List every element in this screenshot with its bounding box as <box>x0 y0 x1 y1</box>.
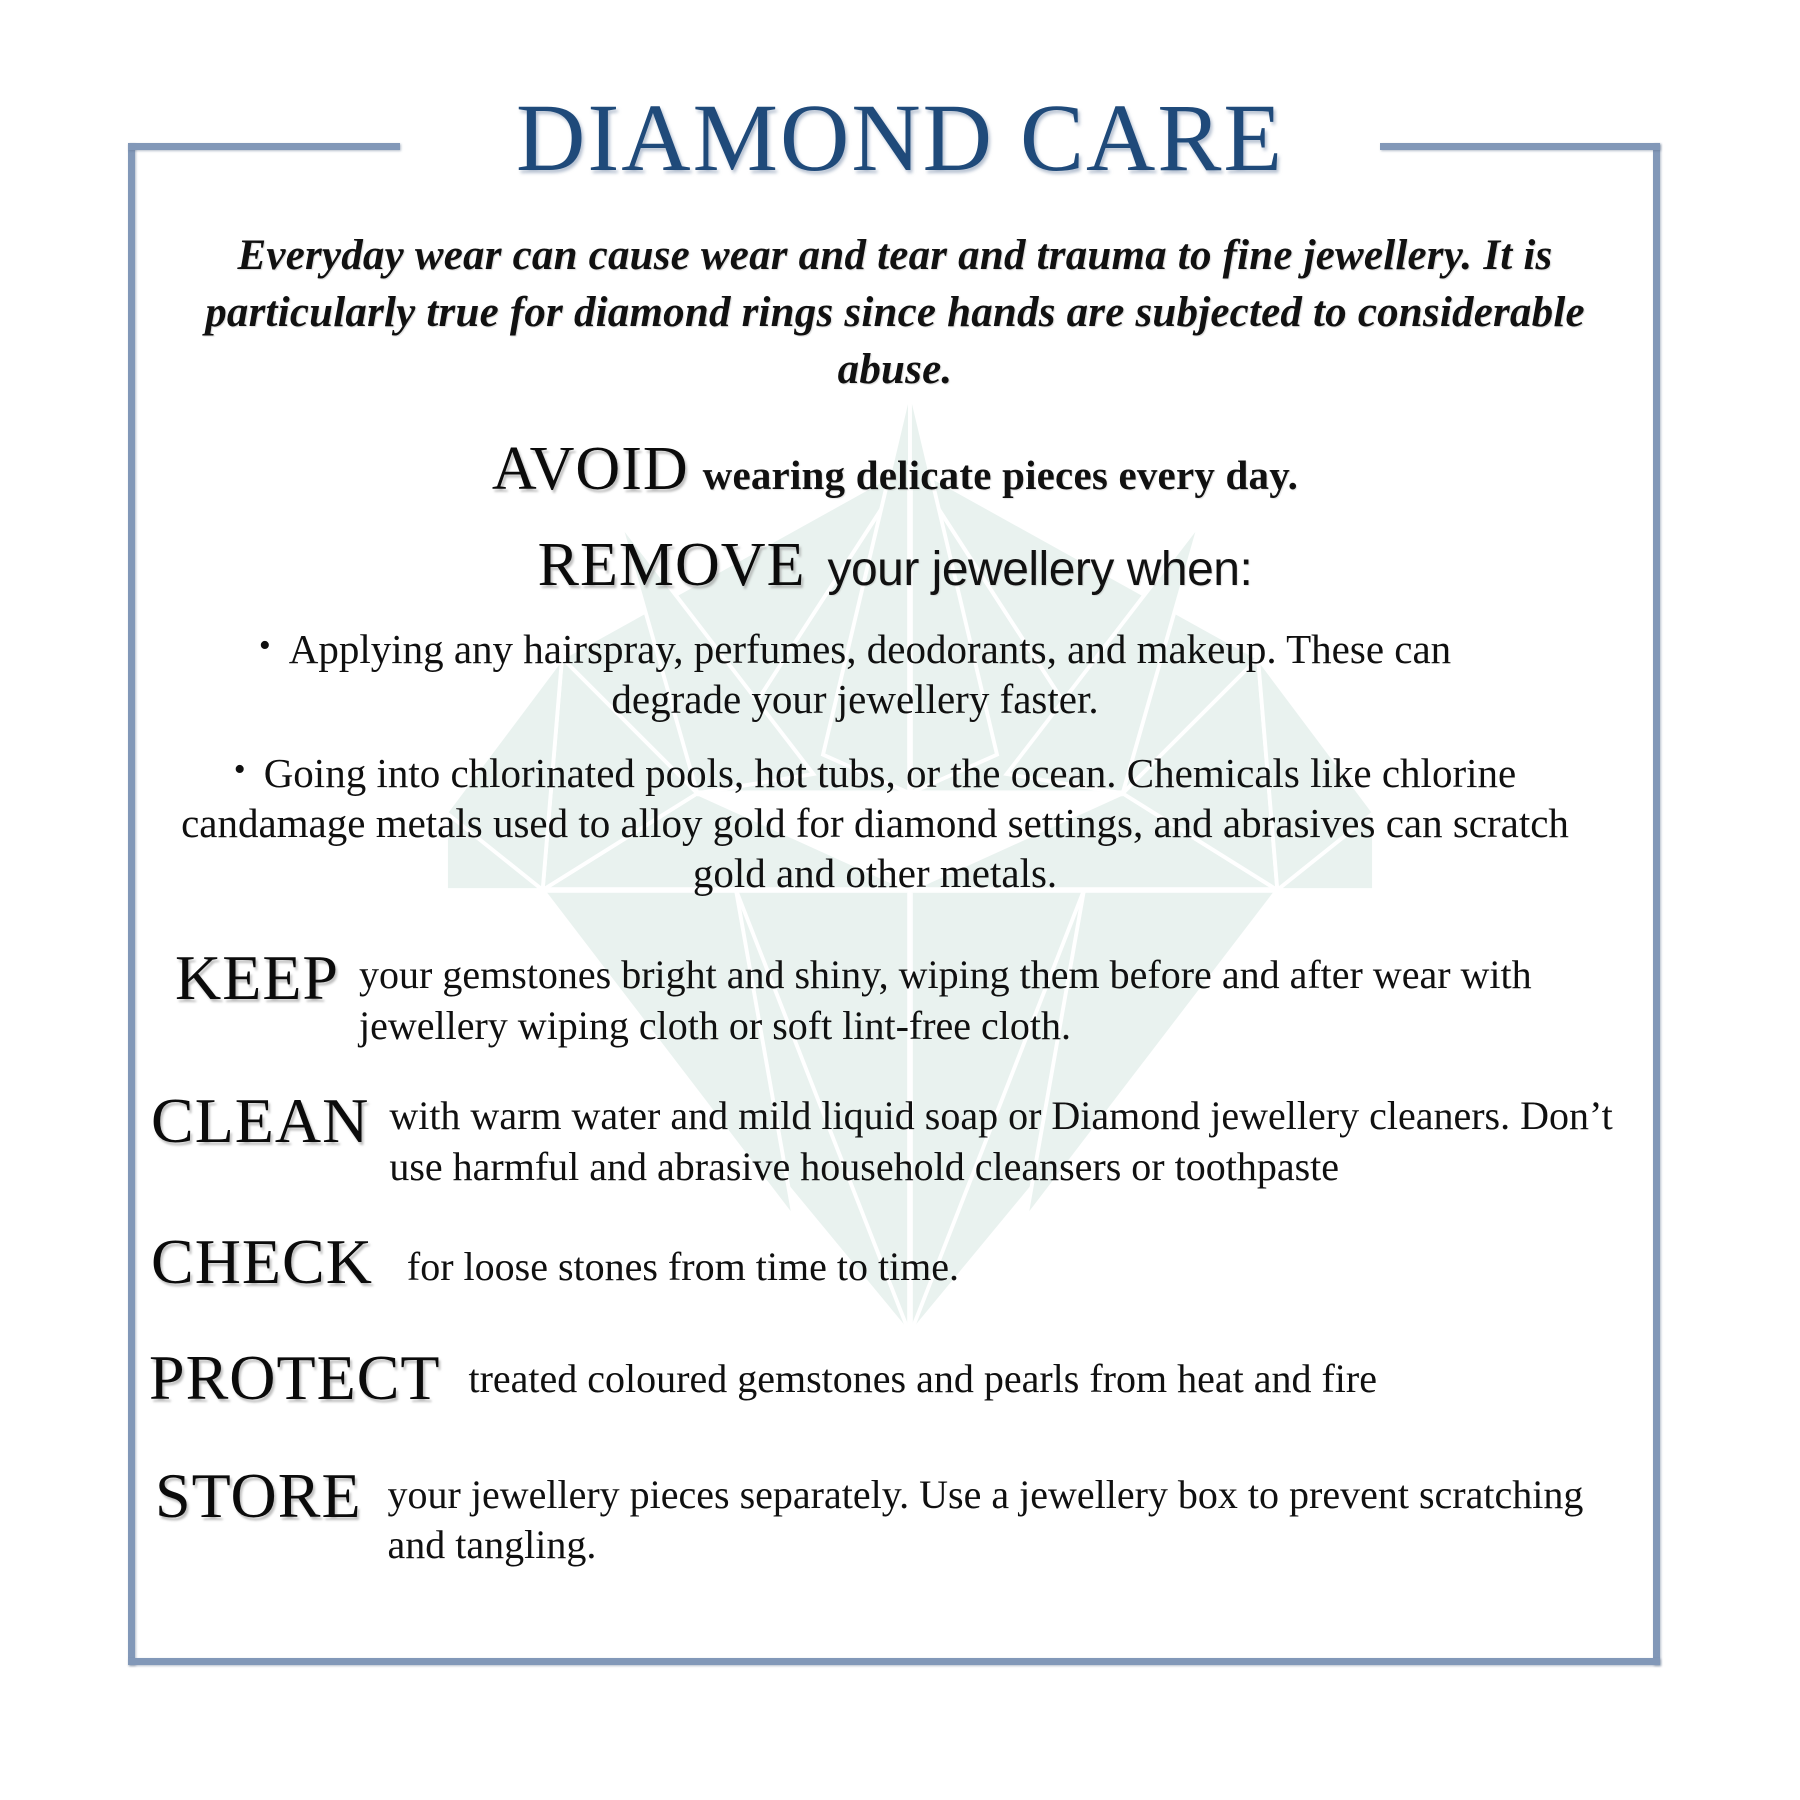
clean-text: with warm water and mild liquid soap or … <box>369 1087 1645 1192</box>
frame-bottom-edge <box>128 1658 1660 1665</box>
clean-keyword-cell: CLEAN <box>151 1087 369 1153</box>
protect-text: treated coloured gemstones and pearls fr… <box>440 1344 1645 1404</box>
page-title: DIAMOND CARE <box>516 90 1284 186</box>
bullet-marker-icon: • <box>234 751 246 788</box>
clean-row: CLEAN with warm water and mild liquid so… <box>145 1087 1645 1192</box>
protect-keyword: PROTECT <box>149 1342 440 1413</box>
store-text: your jewellery pieces separately. Use a … <box>362 1462 1645 1571</box>
diamond-care-poster: DIAMOND CARE Everyday wear can cause wea… <box>0 0 1800 1800</box>
avoid-text: wearing delicate pieces every day. <box>703 452 1298 498</box>
remove-bullet-list: •Applying any hairspray, perfumes, deodo… <box>145 624 1645 898</box>
keep-keyword: KEEP <box>175 942 339 1013</box>
store-keyword: STORE <box>155 1460 362 1531</box>
avoid-keyword: AVOID <box>492 435 689 503</box>
keep-row: KEEP your gemstones bright and shiny, wi… <box>145 944 1645 1051</box>
remove-keyword: REMOVE <box>538 531 806 599</box>
bullet-marker-icon: • <box>259 627 271 664</box>
check-keyword-cell: CHECK <box>151 1228 373 1294</box>
remove-line: REMOVEyour jewellery when: <box>145 534 1645 596</box>
frame-left-edge <box>128 143 135 1665</box>
keep-keyword-cell: KEEP <box>175 944 339 1010</box>
check-keyword: CHECK <box>151 1226 373 1297</box>
intro-paragraph: Everyday wear can cause wear and tear an… <box>175 228 1615 398</box>
list-item-text: Going into chlorinated pools, hot tubs, … <box>181 750 1569 896</box>
content-column: Everyday wear can cause wear and tear an… <box>145 228 1645 1571</box>
store-row: STORE your jewellery pieces separately. … <box>145 1462 1645 1571</box>
protect-keyword-cell: PROTECT <box>149 1344 440 1410</box>
page-title-container: DIAMOND CARE <box>0 90 1800 186</box>
check-text: for loose stones from time to time. <box>373 1228 1645 1292</box>
protect-row: PROTECT treated coloured gemstones and p… <box>145 1344 1645 1410</box>
check-row: CHECK for loose stones from time to time… <box>145 1228 1645 1294</box>
list-item: •Applying any hairspray, perfumes, deodo… <box>235 624 1475 724</box>
clean-keyword: CLEAN <box>151 1085 369 1156</box>
frame-right-edge <box>1653 143 1660 1665</box>
keep-text: your gemstones bright and shiny, wiping … <box>339 944 1645 1051</box>
list-item-text: Applying any hairspray, perfumes, deodor… <box>289 626 1451 722</box>
store-keyword-cell: STORE <box>155 1462 362 1528</box>
list-item: •Going into chlorinated pools, hot tubs,… <box>175 748 1575 898</box>
avoid-line: AVOIDwearing delicate pieces every day. <box>145 438 1645 500</box>
remove-text: your jewellery when: <box>827 543 1252 596</box>
